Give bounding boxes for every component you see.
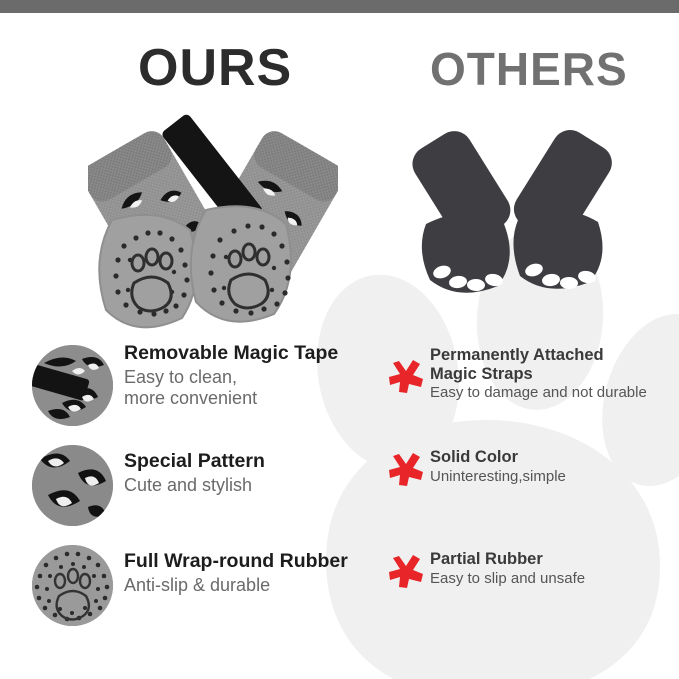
ours-heading: OURS	[138, 38, 292, 98]
title-line: Solid Color	[430, 448, 566, 467]
comparison-infographic: OURS OTHERS	[0, 0, 679, 679]
ours-feature-3-text: Full Wrap-round Rubber Anti-slip & durab…	[124, 550, 394, 596]
ours-feature-3-subtitle: Anti-slip & durable	[124, 575, 394, 596]
others-feature-2-text: Solid Color Uninteresting,simple	[430, 448, 566, 485]
red-x-icon	[388, 555, 424, 589]
others-feature-3-subtitle: Easy to slip and unsafe	[430, 570, 585, 587]
others-feature-3-title: Partial Rubber	[430, 550, 585, 569]
ours-feature-1-title: Removable Magic Tape	[124, 342, 394, 365]
red-x-icon	[388, 360, 424, 394]
others-feature-1-text: Permanently Attached Magic Straps Easy t…	[430, 346, 647, 402]
ours-feature-3: Full Wrap-round Rubber Anti-slip & durab…	[32, 534, 382, 634]
ours-feature-1-text: Removable Magic Tape Easy to clean, more…	[124, 342, 394, 409]
ours-feature-2-title: Special Pattern	[124, 450, 394, 473]
feature-row: Special Pattern Cute and stylish Solid C…	[0, 434, 679, 534]
feature-row: Full Wrap-round Rubber Anti-slip & durab…	[0, 534, 679, 634]
others-feature-1-title: Permanently Attached Magic Straps	[430, 346, 647, 383]
title-line: Permanently Attached	[430, 346, 647, 365]
others-feature-1: Permanently Attached Magic Straps Easy t…	[388, 334, 678, 434]
others-feature-1-subtitle: Easy to damage and not durable	[430, 384, 647, 401]
title-line: Magic Straps	[430, 365, 647, 384]
ours-feature-2-text: Special Pattern Cute and stylish	[124, 450, 394, 496]
others-product-image	[410, 120, 615, 300]
ours-product-image	[88, 100, 338, 330]
ours-feature-3-title: Full Wrap-round Rubber	[124, 550, 394, 573]
ours-feature-1: Removable Magic Tape Easy to clean, more…	[32, 334, 382, 434]
others-heading: OTHERS	[430, 42, 628, 96]
others-feature-2-subtitle: Uninteresting,simple	[430, 468, 566, 485]
subtitle-line: Easy to clean,	[124, 367, 394, 388]
rubber-sole-thumbnail	[32, 545, 113, 626]
subtitle-line: Anti-slip & durable	[124, 575, 394, 596]
others-feature-2-title: Solid Color	[430, 448, 566, 467]
title-line: Partial Rubber	[430, 550, 585, 569]
others-feature-3: Partial Rubber Easy to slip and unsafe	[388, 534, 678, 634]
ours-feature-1-subtitle: Easy to clean, more convenient	[124, 367, 394, 409]
others-feature-2: Solid Color Uninteresting,simple	[388, 434, 678, 534]
subtitle-line: more convenient	[124, 388, 394, 409]
others-feature-3-text: Partial Rubber Easy to slip and unsafe	[430, 550, 585, 587]
subtitle-line: Cute and stylish	[124, 475, 394, 496]
red-x-icon	[388, 453, 424, 487]
feature-rows: Removable Magic Tape Easy to clean, more…	[0, 334, 679, 634]
feature-row: Removable Magic Tape Easy to clean, more…	[0, 334, 679, 434]
ours-feature-2-subtitle: Cute and stylish	[124, 475, 394, 496]
ours-feature-2: Special Pattern Cute and stylish	[32, 434, 382, 534]
top-gray-bar	[0, 0, 679, 13]
velcro-strap-thumbnail	[32, 345, 113, 426]
leopard-pattern-thumbnail	[32, 445, 113, 526]
